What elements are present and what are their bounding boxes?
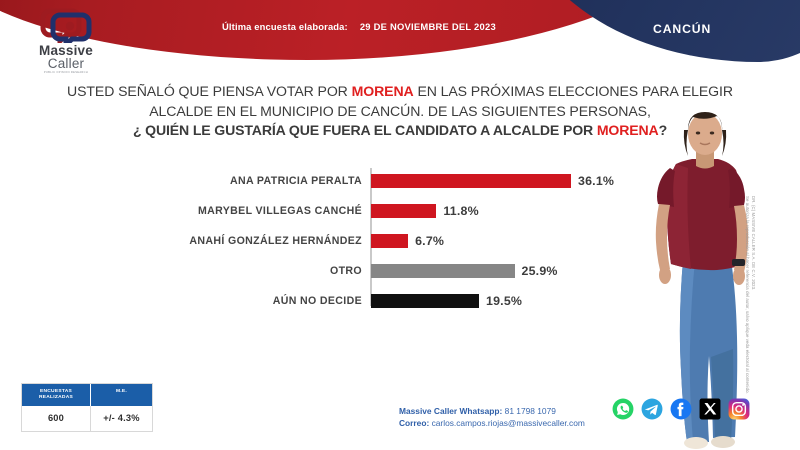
logo-tagline: PUBLIC OPINION RESEARCH [20, 71, 112, 74]
social-links [612, 398, 750, 420]
bar-fill [371, 204, 436, 218]
chart-row: MARYBEL VILLEGAS CANCHÉ 11.8% [0, 196, 640, 226]
bar-label: ANA PATRICIA PERALTA [0, 175, 371, 187]
sample-size-table: ENCUESTAS REALIZADAS M.E. 600 +/- 4.3% [21, 383, 153, 432]
question-line-1a: USTED SEÑALÓ QUE PIENSA VOTAR POR [67, 83, 352, 99]
copyright-line-1: DR. (C) MASSIVE CALLER S.A. DE C.V. 2023… [750, 196, 756, 396]
copyright-line-2: Se autoriza la reproducción al hacer ref… [743, 196, 749, 396]
brand-logo: Massive Caller PUBLIC OPINION RESEARCH [20, 7, 112, 74]
contact-whatsapp: Massive Caller Whatsapp: 81 1798 1079 [399, 405, 585, 417]
contact-email-value: carlos.campos.riojas@massivecaller.com [432, 418, 585, 428]
survey-date: Última encuesta elaborada:29 DE NOVIEMBR… [222, 21, 496, 32]
sample-header-surveys-line1: ENCUESTAS [40, 389, 72, 394]
question-line-3a: ¿ QUIÉN LE GUSTARÍA QUE FUERA EL CANDIDA… [133, 122, 597, 138]
bar-fill [371, 234, 408, 248]
chart-row: AÚN NO DECIDE 19.5% [0, 286, 640, 316]
question-line-2: ALCALDE EN EL MUNICIPIO DE CANCÚN. DE LA… [42, 102, 758, 122]
sample-value-surveys: 600 [22, 406, 91, 431]
survey-date-value: 29 DE NOVIEMBRE DEL 2023 [360, 21, 496, 32]
poll-question: USTED SEÑALÓ QUE PIENSA VOTAR POR MORENA… [42, 82, 758, 141]
question-line-1c: EN LAS PRÓXIMAS ELECCIONES PARA ELEGIR [414, 83, 733, 99]
sample-header-surveys-line2: REALIZADAS [39, 395, 73, 400]
survey-date-label: Última encuesta elaborada: [222, 21, 348, 32]
question-line-1: USTED SEÑALÓ QUE PIENSA VOTAR POR MORENA… [42, 82, 758, 102]
bar-value: 19.5% [486, 294, 522, 308]
chart-row: OTRO 25.9% [0, 256, 640, 286]
chart-row: ANAHÍ GONZÁLEZ HERNÁNDEZ 6.7% [0, 226, 640, 256]
bar-value: 6.7% [415, 234, 444, 248]
contact-info: Massive Caller Whatsapp: 81 1798 1079 Co… [399, 405, 585, 430]
bar-group: 19.5% [371, 294, 522, 308]
question-line-1-morena: MORENA [352, 83, 414, 99]
contact-email-label: Correo: [399, 418, 429, 428]
sample-header-margin: M.E. [91, 384, 152, 406]
sample-value-margin: +/- 4.3% [91, 406, 152, 431]
facebook-icon[interactable] [670, 398, 692, 420]
bar-group: 25.9% [371, 264, 558, 278]
bar-value: 25.9% [522, 264, 558, 278]
speech-bubbles-icon [20, 7, 112, 43]
question-line-3: ¿ QUIÉN LE GUSTARÍA QUE FUERA EL CANDIDA… [42, 121, 758, 141]
bar-fill [371, 294, 479, 308]
instagram-icon[interactable] [728, 398, 750, 420]
contact-email: Correo: carlos.campos.riojas@massivecall… [399, 417, 585, 429]
question-line-3c: ? [659, 122, 667, 138]
bar-group: 6.7% [371, 234, 444, 248]
chart-row: ANA PATRICIA PERALTA 36.1% [0, 166, 640, 196]
contact-whatsapp-value: 81 1798 1079 [505, 406, 556, 416]
whatsapp-icon[interactable] [612, 398, 634, 420]
bar-label: OTRO [0, 265, 371, 277]
bar-fill [371, 174, 571, 188]
contact-whatsapp-label: Massive Caller Whatsapp: [399, 406, 502, 416]
sample-header-surveys: ENCUESTAS REALIZADAS [22, 384, 91, 406]
copyright-notice: DR. (C) MASSIVE CALLER S.A. DE C.V. 2023… [743, 196, 756, 396]
bar-group: 36.1% [371, 174, 614, 188]
sample-table-header: ENCUESTAS REALIZADAS M.E. [22, 384, 152, 406]
bar-value: 11.8% [443, 204, 478, 218]
bar-fill [371, 264, 515, 278]
bar-label: ANAHÍ GONZÁLEZ HERNÁNDEZ [0, 235, 371, 247]
x-icon[interactable] [699, 398, 721, 420]
bar-label: AÚN NO DECIDE [0, 295, 371, 307]
sample-table-body: 600 +/- 4.3% [22, 406, 152, 431]
city-label: CANCÚN [653, 22, 711, 36]
bar-label: MARYBEL VILLEGAS CANCHÉ [0, 205, 371, 217]
results-bar-chart: ANA PATRICIA PERALTA 36.1% MARYBEL VILLE… [0, 166, 640, 316]
bar-value: 36.1% [578, 174, 614, 188]
logo-text-caller: Caller [20, 57, 112, 70]
bar-group: 11.8% [371, 204, 479, 218]
question-line-3-morena: MORENA [597, 122, 659, 138]
infographic-canvas: Última encuesta elaborada:29 DE NOVIEMBR… [0, 0, 800, 450]
telegram-icon[interactable] [641, 398, 663, 420]
